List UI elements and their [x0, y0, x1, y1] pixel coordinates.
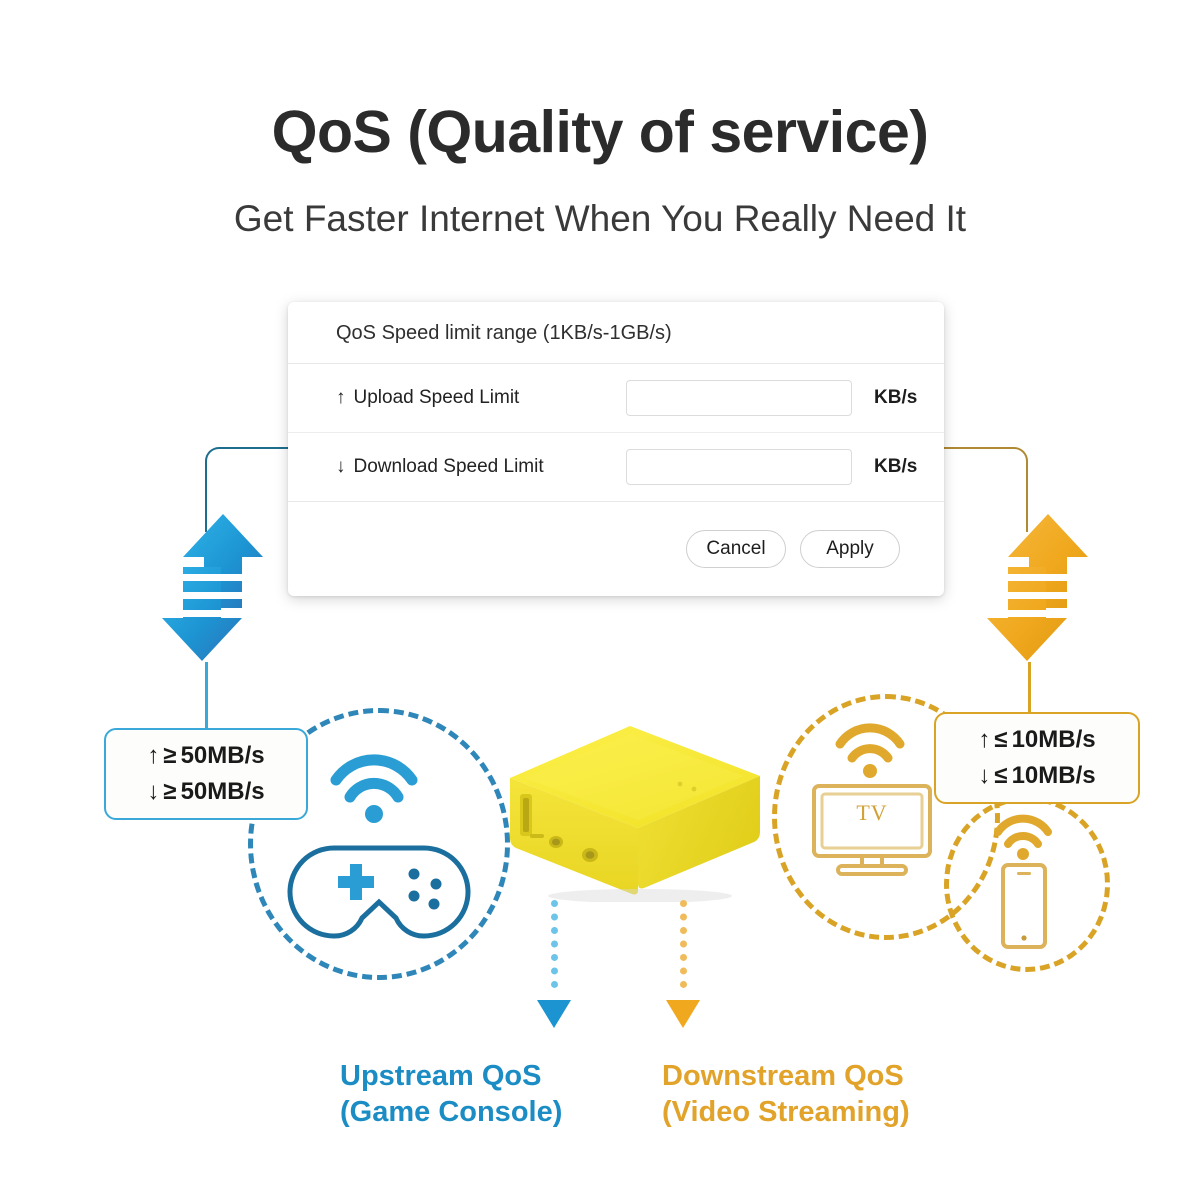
gamepad-icon — [286, 840, 472, 955]
download-speed-unit: KB/s — [874, 456, 917, 478]
phone-icon — [1000, 862, 1048, 955]
downstream-speed-badge: ↑≤10MB/s ↓≤10MB/s — [934, 712, 1140, 804]
upstream-dotted-connector — [551, 900, 565, 988]
up-arrow-icon: ↑ — [147, 742, 159, 769]
wifi-icon-game — [326, 748, 422, 829]
upload-speed-limit-label: ↑Upload Speed Limit — [336, 387, 626, 409]
down-arrow-icon: ↓ — [978, 762, 990, 789]
apply-button[interactable]: Apply — [800, 530, 900, 568]
wifi-icon-tv — [832, 718, 908, 783]
dialog-footer: Cancel Apply — [288, 502, 944, 595]
downstream-caption-line2: (Video Streaming) — [662, 1094, 910, 1130]
router-device — [494, 712, 774, 907]
upload-speed-limit-input[interactable] — [626, 380, 852, 416]
upstream-arrowhead-icon — [537, 1000, 571, 1028]
qos-infographic: QoS (Quality of service) Get Faster Inte… — [0, 0, 1200, 1200]
upload-speed-unit: KB/s — [874, 387, 917, 409]
up-arrow-icon: ↑ — [978, 726, 990, 753]
tv-icon — [810, 782, 934, 883]
downstream-caption-line1: Downstream QoS — [662, 1060, 904, 1092]
downstream-badge-line-1: ↑≤10MB/s — [936, 722, 1138, 758]
upload-arrow-icon: ↑ — [336, 387, 346, 408]
upstream-badge-line-1: ↑≥50MB/s — [106, 738, 306, 774]
upstream-speed-badge: ↑≥50MB/s ↓≥50MB/s — [104, 728, 308, 820]
qos-speed-limit-dialog: QoS Speed limit range (1KB/s-1GB/s) ↑Upl… — [288, 302, 944, 596]
upload-speed-limit-row: ↑Upload Speed Limit KB/s — [288, 364, 944, 433]
connector-stem-right — [1028, 662, 1031, 714]
page-subtitle: Get Faster Internet When You Really Need… — [0, 198, 1200, 240]
downstream-caption: Downstream QoS (Video Streaming) — [662, 1058, 910, 1131]
downstream-arrow-pair-icon — [985, 510, 1095, 670]
cancel-button[interactable]: Cancel — [686, 530, 786, 568]
wifi-icon-phone — [992, 810, 1054, 865]
connector-stem-left — [205, 662, 208, 730]
upstream-caption: Upstream QoS (Game Console) — [340, 1058, 562, 1131]
downstream-dotted-connector — [680, 900, 694, 988]
tv-screen-label: TV — [826, 800, 918, 826]
page-title: QoS (Quality of service) — [0, 98, 1200, 166]
downstream-badge-line-2: ↓≤10MB/s — [936, 758, 1138, 794]
downstream-arrowhead-icon — [666, 1000, 700, 1028]
down-arrow-icon: ↓ — [147, 778, 159, 805]
download-arrow-icon: ↓ — [336, 456, 346, 477]
upstream-caption-line2: (Game Console) — [340, 1094, 562, 1130]
upstream-caption-line1: Upstream QoS — [340, 1060, 541, 1092]
dialog-title: QoS Speed limit range (1KB/s-1GB/s) — [288, 302, 944, 364]
download-speed-limit-input[interactable] — [626, 449, 852, 485]
upstream-arrow-pair-icon — [160, 510, 270, 670]
upstream-badge-line-2: ↓≥50MB/s — [106, 774, 306, 810]
download-speed-limit-label: ↓Download Speed Limit — [336, 456, 626, 478]
download-speed-limit-row: ↓Download Speed Limit KB/s — [288, 433, 944, 502]
